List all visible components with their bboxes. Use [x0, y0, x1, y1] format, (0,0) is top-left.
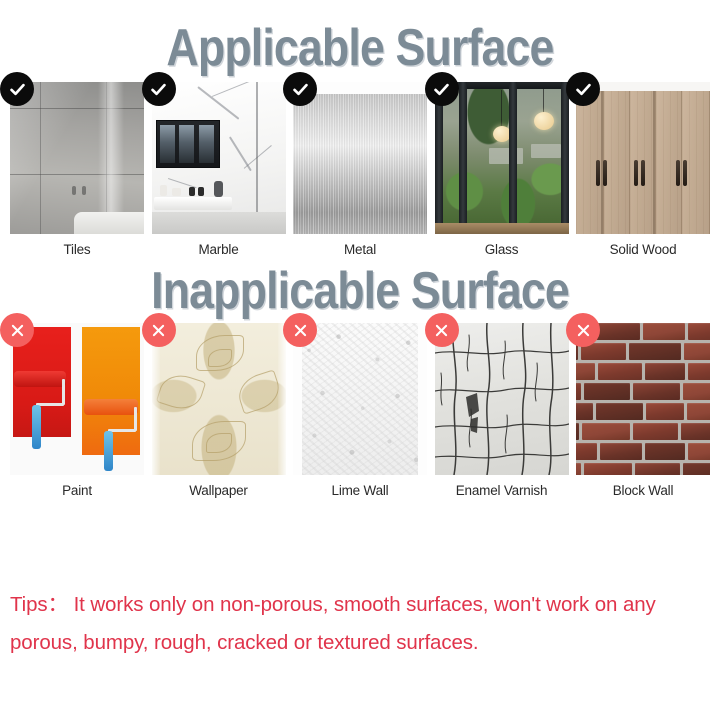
infographic-page: Applicable Surface — [0, 0, 720, 720]
surface-card-metal[interactable]: Metal — [293, 82, 427, 257]
surface-card-block-wall[interactable]: Block Wall — [576, 323, 710, 498]
surface-card-enamel-varnish[interactable]: Enamel Varnish — [435, 323, 569, 498]
surface-card-marble[interactable]: Marble — [152, 82, 286, 257]
glass-artwork — [435, 82, 569, 234]
metal-artwork — [293, 82, 427, 234]
applicable-section-heading: Applicable Surface — [50, 0, 669, 74]
inapplicable-section-heading: Inapplicable Surface — [50, 257, 669, 317]
thumbnail-block-wall — [576, 323, 710, 475]
surface-label-marble: Marble — [198, 242, 238, 257]
thumbnail-wrap-wallpaper — [152, 323, 286, 475]
thumbnail-solid-wood — [576, 82, 710, 234]
surface-card-tiles[interactable]: Tiles — [10, 82, 144, 257]
surface-card-glass[interactable]: Glass — [435, 82, 569, 257]
wallpaper-artwork — [152, 323, 286, 475]
surface-label-tiles: Tiles — [63, 242, 90, 257]
thumbnail-wrap-solid-wood — [576, 82, 710, 234]
thumbnail-enamel-varnish — [435, 323, 569, 475]
surface-label-enamel-varnish: Enamel Varnish — [456, 483, 548, 498]
thumbnail-metal — [293, 82, 427, 234]
surface-label-glass: Glass — [485, 242, 519, 257]
check-circle-icon — [0, 72, 34, 106]
thumbnail-wrap-tiles — [10, 82, 144, 234]
surface-label-wallpaper: Wallpaper — [189, 483, 247, 498]
surface-label-block-wall: Block Wall — [613, 483, 674, 498]
inapplicable-surface-row: Paint — [0, 323, 720, 498]
surface-card-paint[interactable]: Paint — [10, 323, 144, 498]
x-circle-icon — [566, 313, 600, 347]
thumbnail-glass — [435, 82, 569, 234]
check-circle-icon — [566, 72, 600, 106]
block-wall-artwork — [576, 323, 710, 475]
x-circle-icon — [283, 313, 317, 347]
thumbnail-tiles — [10, 82, 144, 234]
thumbnail-wrap-metal — [293, 82, 427, 234]
thumbnail-wrap-enamel-varnish — [435, 323, 569, 475]
crack-pattern — [435, 323, 569, 475]
surface-label-solid-wood: Solid Wood — [610, 242, 677, 257]
paint-artwork — [10, 323, 144, 475]
thumbnail-paint — [10, 323, 144, 475]
applicable-surface-row: Tiles — [0, 82, 720, 257]
thumbnail-lime-wall — [293, 323, 427, 475]
tips-text: Tips： It works only on non-porous, smoot… — [10, 586, 710, 662]
enamel-varnish-artwork — [435, 323, 569, 475]
check-circle-icon — [283, 72, 317, 106]
surface-card-lime-wall[interactable]: Lime Wall — [293, 323, 427, 498]
x-circle-icon — [425, 313, 459, 347]
marble-artwork — [152, 82, 286, 234]
thumbnail-wrap-glass — [435, 82, 569, 234]
solid-wood-artwork — [576, 82, 710, 234]
tiles-artwork — [10, 82, 144, 234]
surface-card-wallpaper[interactable]: Wallpaper — [152, 323, 286, 498]
surface-label-lime-wall: Lime Wall — [332, 483, 389, 498]
thumbnail-wrap-lime-wall — [293, 323, 427, 475]
surface-card-solid-wood[interactable]: Solid Wood — [576, 82, 710, 257]
thumbnail-marble — [152, 82, 286, 234]
lime-wall-artwork — [293, 323, 427, 475]
surface-label-paint: Paint — [62, 483, 92, 498]
x-circle-icon — [0, 313, 34, 347]
check-circle-icon — [425, 72, 459, 106]
thumbnail-wrap-paint — [10, 323, 144, 475]
thumbnail-wallpaper — [152, 323, 286, 475]
check-circle-icon — [142, 72, 176, 106]
surface-label-metal: Metal — [344, 242, 376, 257]
x-circle-icon — [142, 313, 176, 347]
thumbnail-wrap-marble — [152, 82, 286, 234]
thumbnail-wrap-block-wall — [576, 323, 710, 475]
